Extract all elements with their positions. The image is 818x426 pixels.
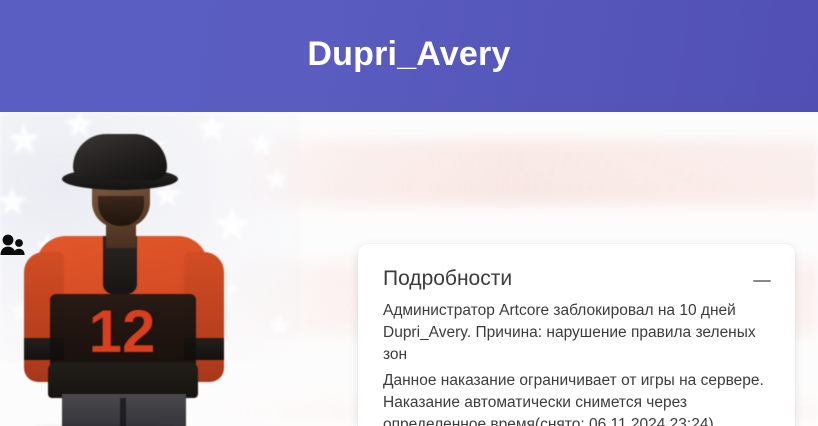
avatar: 12 [18,112,228,426]
ban-description-text: Администратор Artcore заблокировал на 10… [383,300,775,366]
minus-icon[interactable] [753,280,771,282]
avatar-hat [73,134,167,180]
details-card-header: Подробности [383,266,771,291]
avatar-leg-split [120,398,126,426]
page-header: Dupri_Avery [0,0,818,112]
users-icon[interactable] [0,234,26,256]
details-card: Подробности Администратор Artcore заблок… [358,244,795,426]
page-title: Dupri_Avery [307,37,510,75]
page-root: Dupri_Avery 12 [0,0,818,426]
ban-conditions-text: Данное наказание ограничивает от игры на… [383,370,775,426]
details-card-title: Подробности [383,266,512,291]
profile-background: 12 Заблокирован [0,112,818,426]
avatar-jersey-number: 12 [58,298,186,366]
avatar-waist [48,362,198,398]
